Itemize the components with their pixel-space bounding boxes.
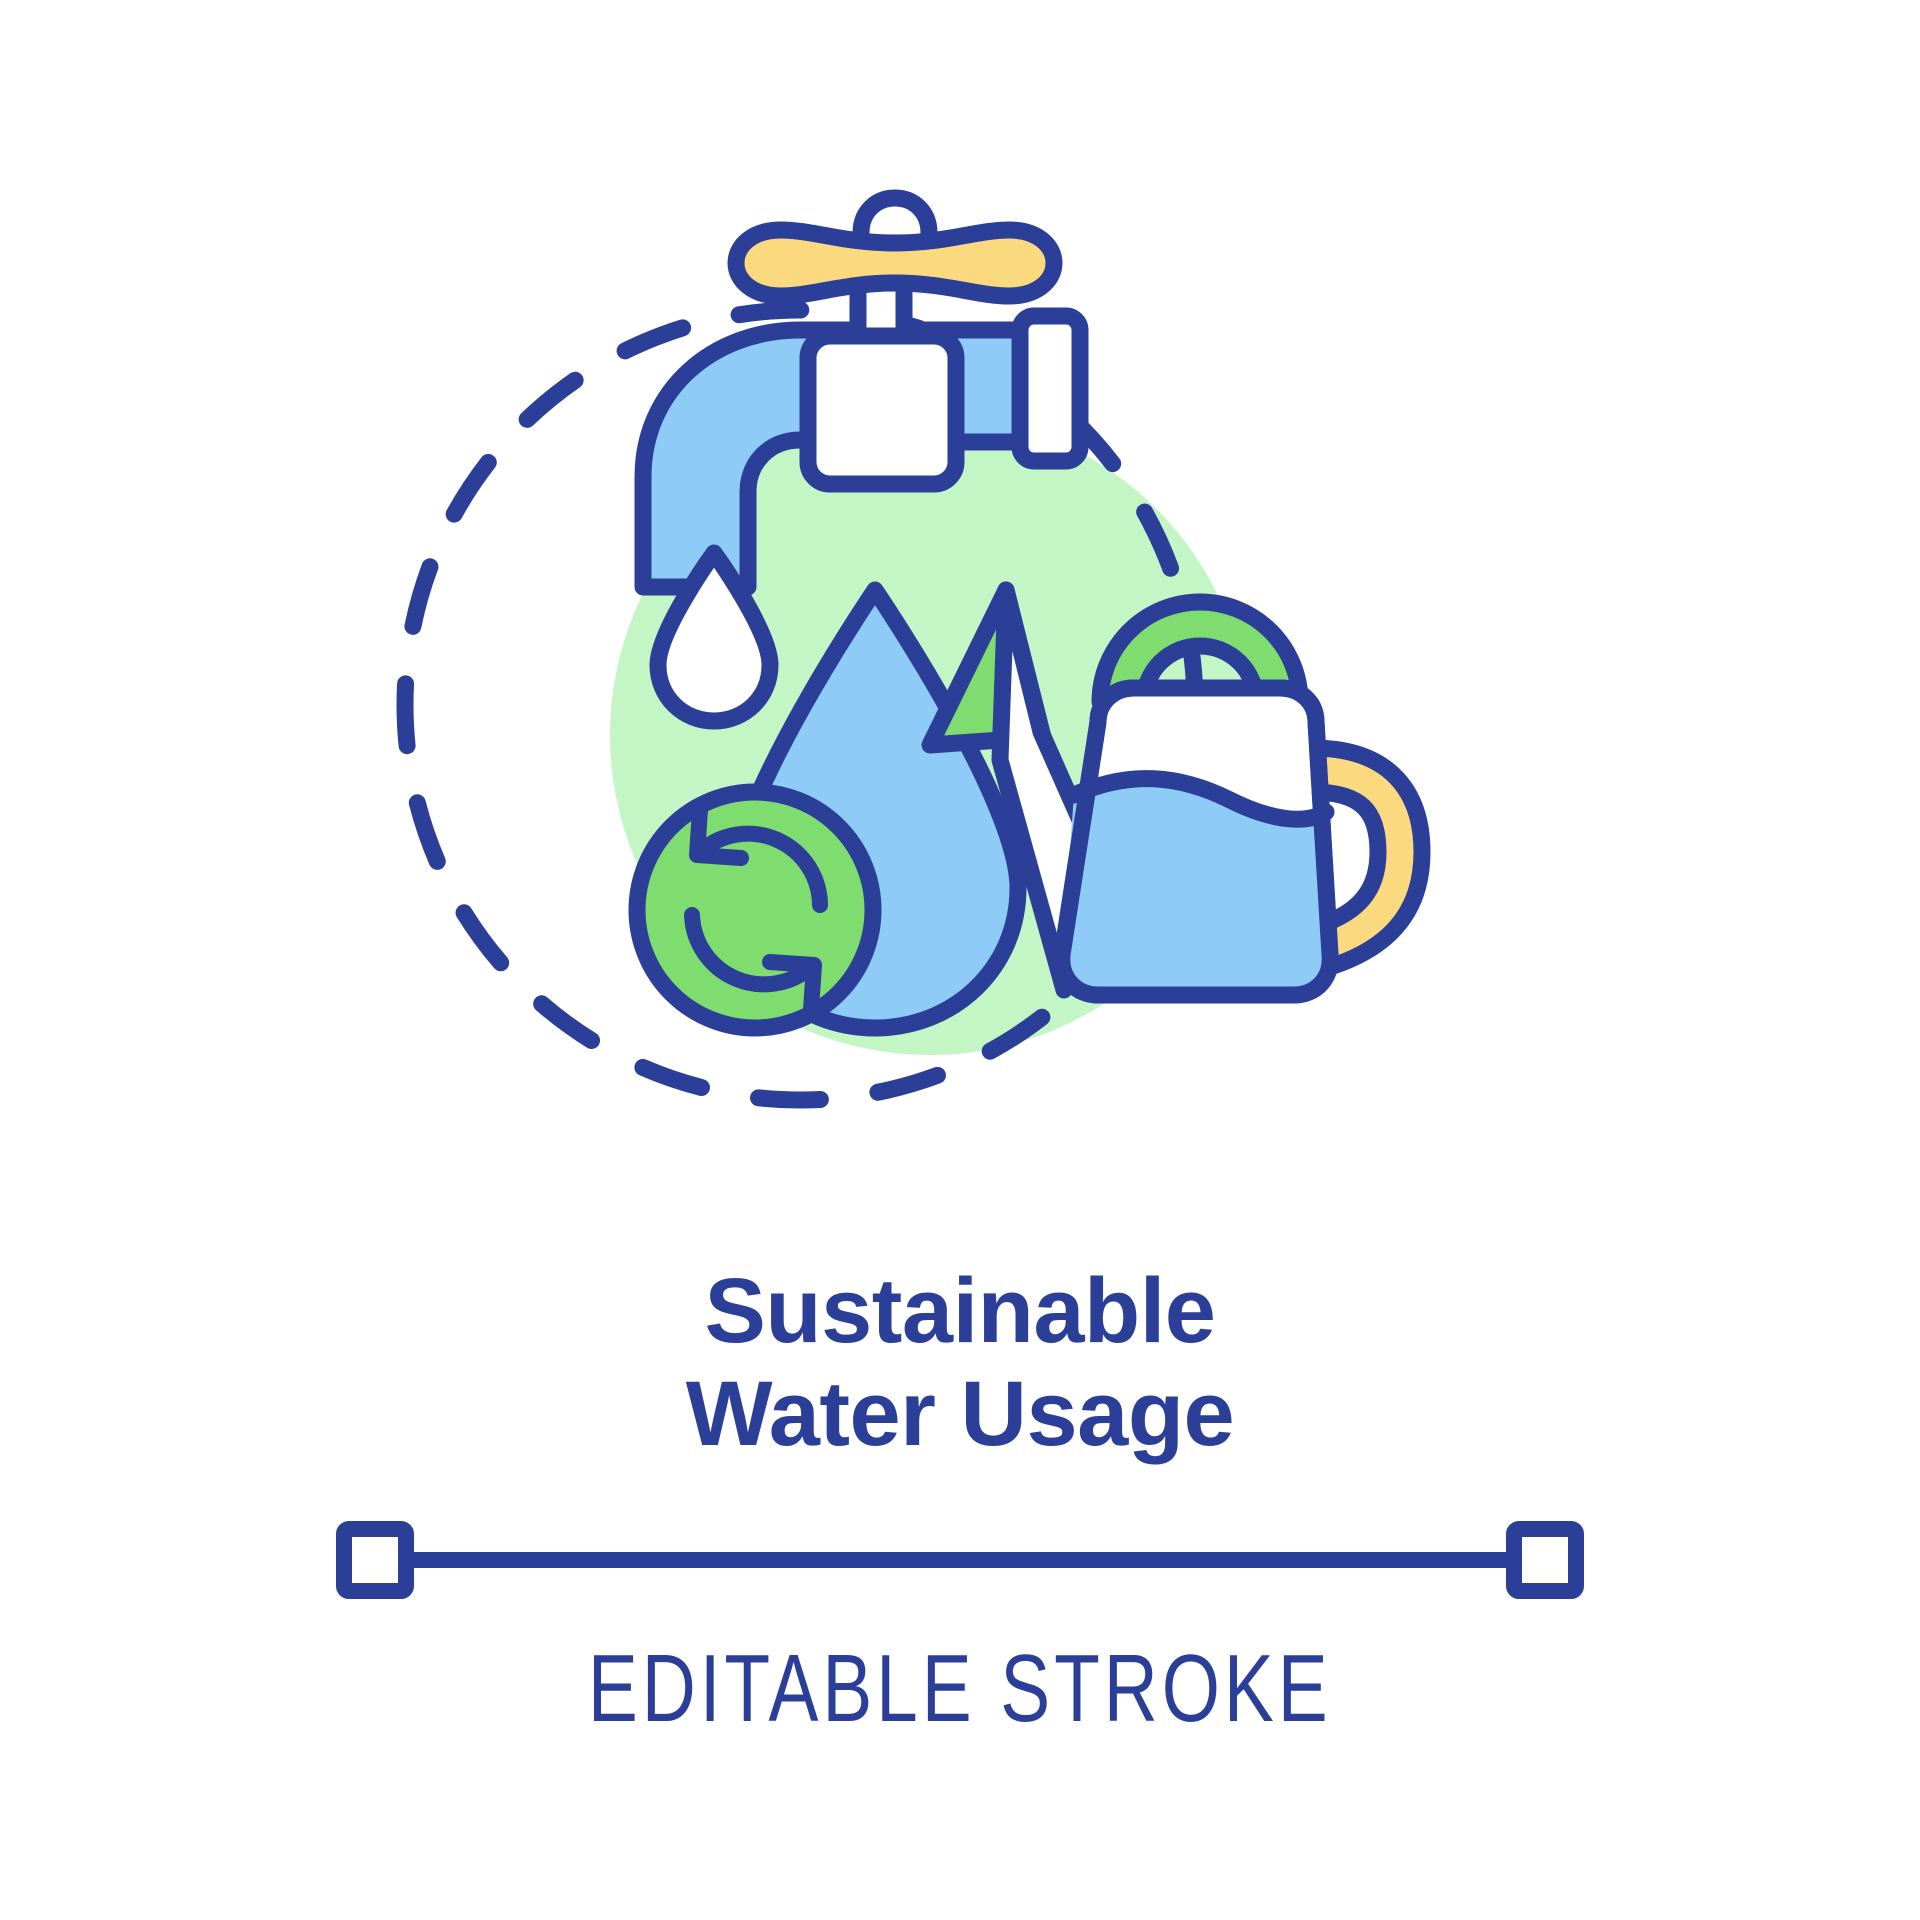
editable-stroke-label: EDITABLE STROKE [588,1634,1332,1744]
concept-icon-card: Sustainable Water Usage EDITABLE STROKE [0,0,1920,1920]
editable-stroke-legend: EDITABLE STROKE [0,1520,1920,1744]
faucet-valve-body [808,336,956,484]
stroke-width-indicator [335,1520,1585,1600]
faucet-handle [736,230,1054,296]
page-title: Sustainable Water Usage [0,1260,1920,1466]
stroke-endpoint-right[interactable] [1514,1529,1576,1591]
illustration [0,0,1920,1240]
stroke-endpoint-left[interactable] [344,1529,406,1591]
faucet-flange [1020,316,1080,461]
